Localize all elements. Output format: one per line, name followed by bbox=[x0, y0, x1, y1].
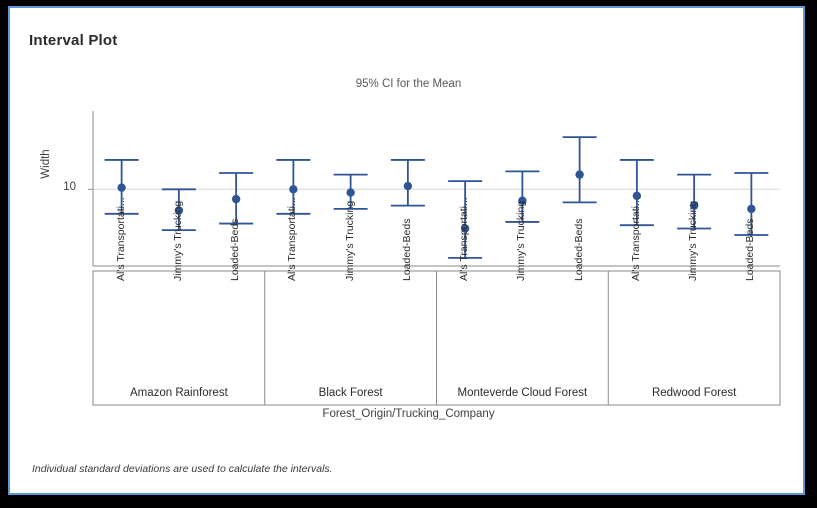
mean-point bbox=[404, 182, 412, 190]
mean-point bbox=[232, 195, 240, 203]
x-category-label: Loaded-Beds bbox=[401, 219, 413, 281]
interval-marker bbox=[391, 160, 425, 206]
interval-marker bbox=[219, 173, 253, 224]
x-category-label: Loaded-Beds bbox=[229, 219, 241, 281]
x-axis-title: Forest_Origin/Trucking_Company bbox=[10, 408, 807, 420]
x-category-label: Jimmy's Trucking bbox=[172, 201, 184, 281]
mean-point bbox=[346, 188, 354, 196]
mean-point bbox=[747, 205, 755, 213]
x-category-label: Jimmy's Trucking bbox=[515, 201, 527, 281]
mean-point bbox=[289, 185, 297, 193]
mean-point bbox=[117, 183, 125, 191]
x-category-label: Loaded-Beds bbox=[573, 219, 585, 281]
mean-point bbox=[575, 170, 583, 178]
interval-marker bbox=[563, 137, 597, 202]
x-category-label: Al's Transportati... bbox=[630, 197, 642, 281]
x-category-label: Jimmy's Trucking bbox=[344, 201, 356, 281]
x-group-label: Amazon Rainforest bbox=[93, 387, 265, 399]
chart-card: Interval Plot 95% CI for the Mean Width … bbox=[8, 6, 805, 495]
x-group-label: Redwood Forest bbox=[608, 387, 780, 399]
x-category-label: Al's Transportati... bbox=[115, 197, 127, 281]
x-category-label: Loaded-Beds bbox=[744, 219, 756, 281]
interval-plot: Width 10 Al's Transportati...Jimmy's Tru… bbox=[10, 8, 807, 497]
x-category-label: Al's Transportati... bbox=[458, 197, 470, 281]
footnote: Individual standard deviations are used … bbox=[32, 463, 333, 475]
y-axis-tick-label: 10 bbox=[50, 181, 76, 193]
x-category-label: Jimmy's Trucking bbox=[687, 201, 699, 281]
x-group-label: Black Forest bbox=[265, 387, 437, 399]
x-category-label: Al's Transportati... bbox=[286, 197, 298, 281]
x-group-label: Monteverde Cloud Forest bbox=[437, 387, 609, 399]
